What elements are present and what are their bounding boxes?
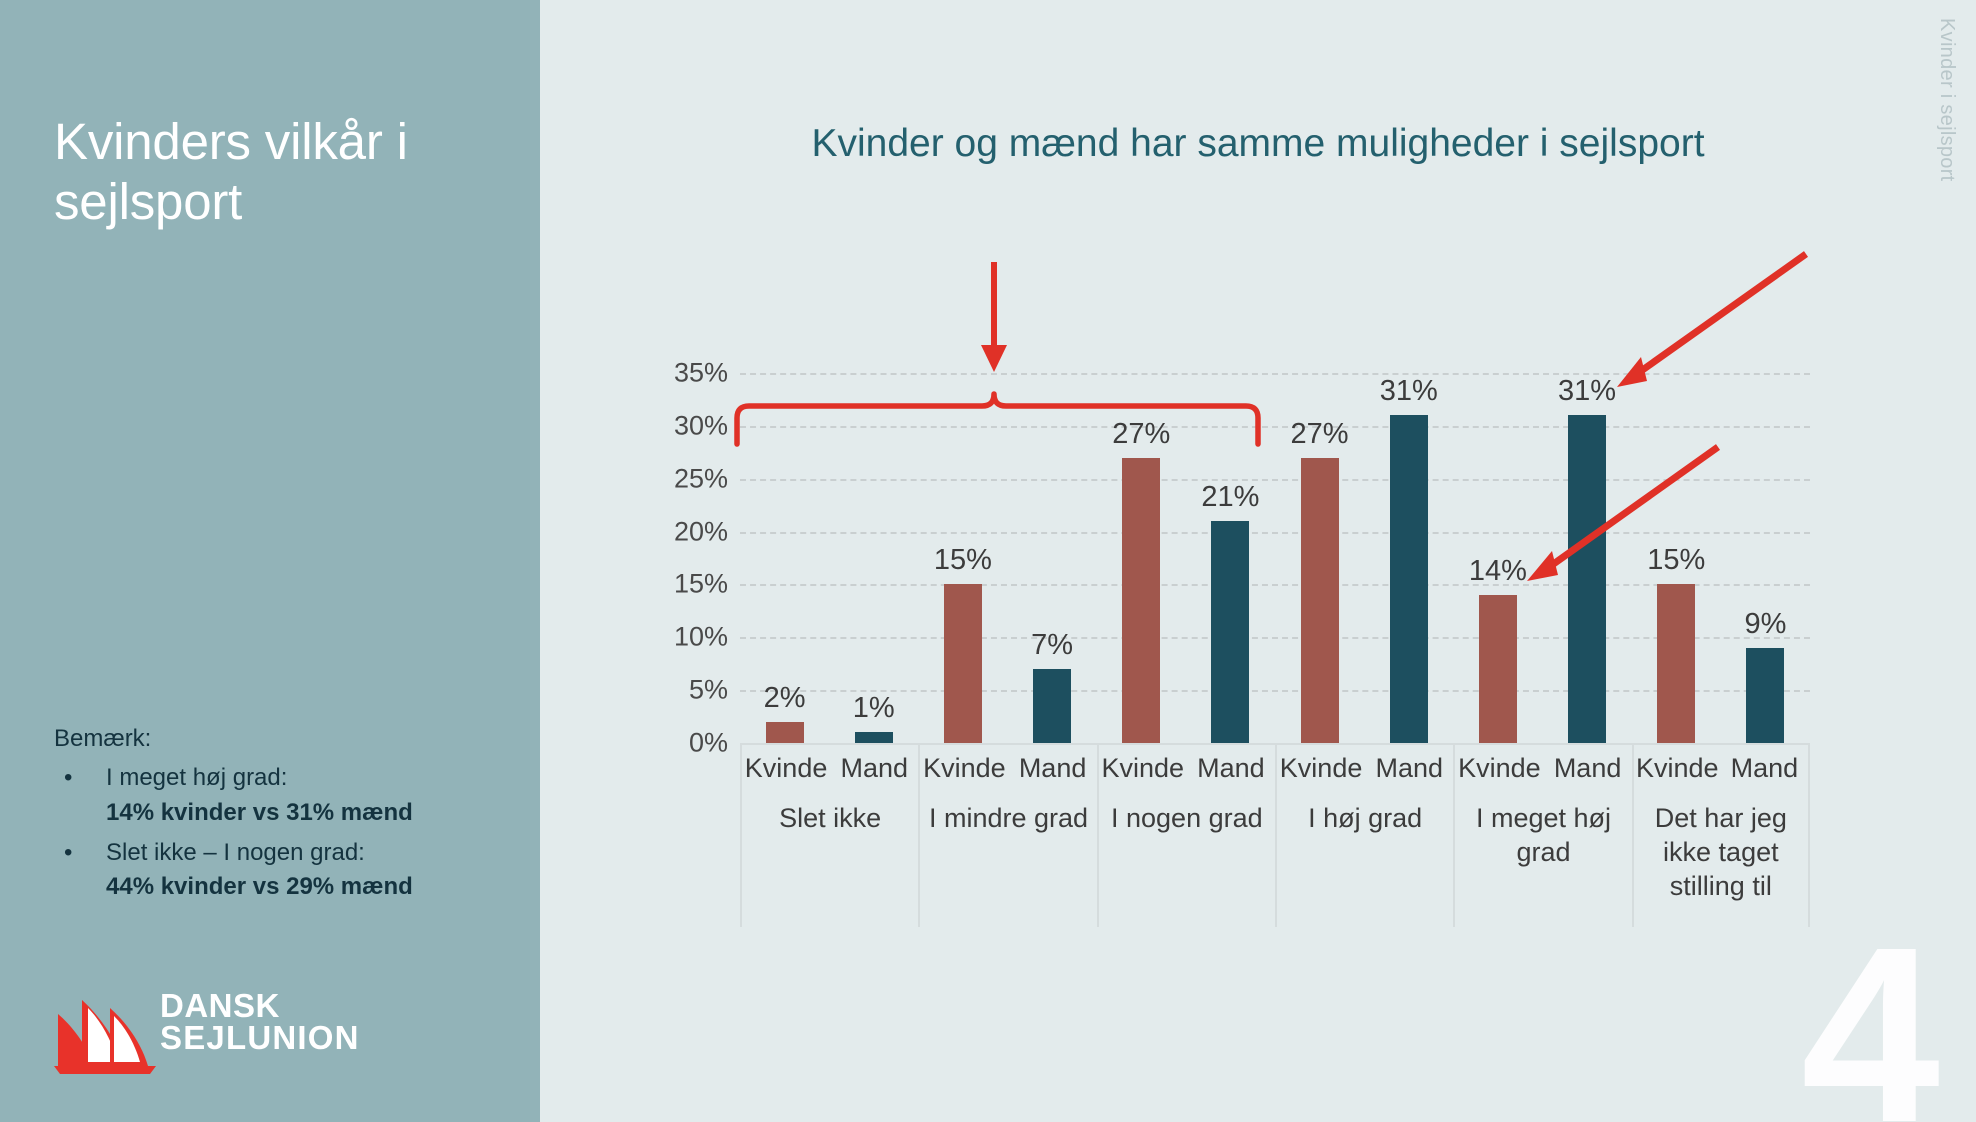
bar-value-label: 15% [908, 544, 1018, 577]
bullet-glyph: • [54, 836, 106, 871]
gender-label-row: KvindeMand [1277, 753, 1453, 784]
x-axis-category-cell: KvindeMandI høj grad [1275, 743, 1453, 927]
bar-mand-1 [1033, 669, 1071, 743]
y-axis-tick-label: 30% [598, 410, 728, 441]
slide-root: Kvinders vilkår i sejlsport Bemærk: • I … [0, 0, 1976, 1122]
x-axis-category-label: I nogen grad [1103, 801, 1271, 835]
bar-kvinde-2 [1122, 458, 1160, 743]
bar-value-label: 7% [997, 629, 1107, 662]
x-axis-gender-label: Kvinde [920, 753, 1008, 784]
bar-kvinde-1 [944, 584, 982, 743]
logo-wordmark: DANSK SEJLUNION [160, 990, 360, 1054]
x-axis-gender-label: Mand [1544, 753, 1632, 784]
bar-kvinde-0 [766, 722, 804, 743]
bar-value-label: 27% [1265, 418, 1375, 451]
bar-value-label: 31% [1354, 375, 1464, 408]
x-axis-gender-label: Kvinde [1099, 753, 1187, 784]
x-axis-category-cell: KvindeMandI meget høj grad [1453, 743, 1631, 927]
gender-label-row: KvindeMand [920, 753, 1096, 784]
x-axis-category-table: KvindeMandSlet ikkeKvindeMandI mindre gr… [740, 743, 1810, 927]
bar-value-label: 9% [1710, 608, 1820, 641]
gridline [740, 373, 1810, 375]
page-number: 4 [1801, 910, 1940, 1122]
note-item-value: 14% kvinder vs 31% mænd [106, 796, 514, 831]
y-axis-tick-label: 5% [598, 675, 728, 706]
note-block: Bemærk: • I meget høj grad: 14% kvinder … [54, 722, 514, 905]
note-heading: Bemærk: [54, 722, 514, 756]
x-axis-category-cell: KvindeMandI mindre grad [918, 743, 1096, 927]
x-axis-category-label: I høj grad [1281, 801, 1449, 835]
x-axis-gender-label: Kvinde [1455, 753, 1543, 784]
y-axis-tick-label: 35% [598, 358, 728, 389]
x-axis-category-cell: KvindeMandI nogen grad [1097, 743, 1275, 927]
note-item-label: I meget høj grad: [106, 761, 514, 796]
list-item: • Slet ikke – I nogen grad: 44% kvinder … [54, 836, 514, 906]
list-item: • I meget høj grad: 14% kvinder vs 31% m… [54, 761, 514, 831]
gridline [740, 532, 1810, 534]
bar-mand-2 [1211, 521, 1249, 743]
x-axis-category-label: Slet ikke [746, 801, 914, 835]
x-axis-category-label: I mindre grad [924, 801, 1092, 835]
x-axis-category-cell: KvindeMandSlet ikke [740, 743, 918, 927]
bar-chart: 35%30%25%20%15%10%5%0% 2%1%15%7%27%21%27… [740, 373, 1810, 743]
y-axis-tick-label: 10% [598, 622, 728, 653]
y-axis-tick-label: 15% [598, 569, 728, 600]
bar-value-label: 31% [1532, 375, 1642, 408]
y-axis-tick-label: 0% [598, 728, 728, 759]
bar-value-label: 1% [819, 692, 929, 725]
x-axis-gender-label: Mand [1009, 753, 1097, 784]
x-axis-gender-label: Kvinde [742, 753, 830, 784]
gridline [740, 584, 1810, 586]
logo-line-1: DANSK [160, 990, 360, 1022]
logo-line-2: SEJLUNION [160, 1022, 360, 1054]
x-axis-gender-label: Mand [1721, 753, 1808, 784]
bar-value-label: 27% [1086, 418, 1196, 451]
note-item-value: 44% kvinder vs 29% mænd [106, 870, 514, 905]
vertical-section-label: Kvinder i sejlsport [1935, 18, 1958, 182]
bar-kvinde-5 [1657, 584, 1695, 743]
x-axis-category-cell: KvindeMandDet har jeg ikke taget stillin… [1632, 743, 1810, 927]
bar-value-label: 15% [1621, 544, 1731, 577]
bullet-glyph: • [54, 761, 106, 796]
gender-label-row: KvindeMand [1455, 753, 1631, 784]
page-title: Kvinders vilkår i sejlsport [54, 112, 494, 232]
note-item-label: Slet ikke – I nogen grad: [106, 836, 514, 871]
x-axis-gender-label: Mand [1187, 753, 1275, 784]
x-axis-gender-label: Mand [1365, 753, 1453, 784]
bar-kvinde-4 [1479, 595, 1517, 743]
bar-mand-3 [1390, 415, 1428, 743]
sidebar: Kvinders vilkår i sejlsport Bemærk: • I … [0, 0, 540, 1122]
gender-label-row: KvindeMand [742, 753, 918, 784]
chart-title: Kvinder og mænd har samme muligheder i s… [540, 122, 1976, 166]
x-axis-gender-label: Kvinde [1277, 753, 1365, 784]
bar-value-label: 14% [1443, 555, 1553, 588]
gender-label-row: KvindeMand [1099, 753, 1275, 784]
y-axis-tick-label: 25% [598, 463, 728, 494]
x-axis-gender-label: Mand [830, 753, 918, 784]
x-axis-category-label: Det har jeg ikke taget stilling til [1638, 801, 1804, 903]
x-axis-category-label: I meget høj grad [1459, 801, 1627, 869]
bar-mand-0 [855, 732, 893, 743]
y-axis-tick-label: 20% [598, 516, 728, 547]
bar-mand-4 [1568, 415, 1606, 743]
bar-value-label: 21% [1175, 481, 1285, 514]
x-axis-gender-label: Kvinde [1634, 753, 1721, 784]
bar-mand-5 [1746, 648, 1784, 743]
bar-kvinde-3 [1301, 458, 1339, 743]
gridline [740, 637, 1810, 639]
gender-label-row: KvindeMand [1634, 753, 1808, 784]
